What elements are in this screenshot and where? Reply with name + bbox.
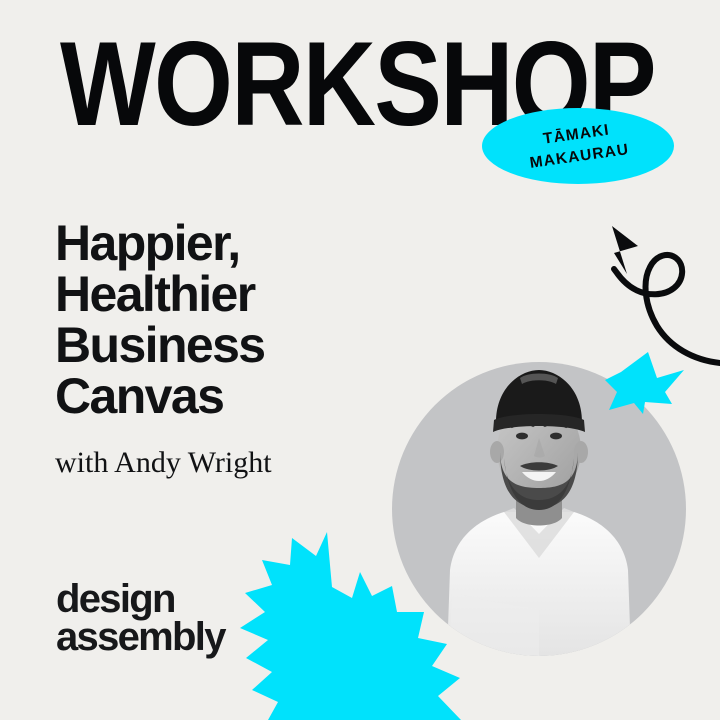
brand-logo: design assembly [56,580,225,656]
workshop-title-line3: Business [55,320,385,371]
workshop-title-line4: Canvas [55,371,385,422]
presenter-name: with Andy Wright [55,446,272,480]
brand-logo-line1: design [56,580,225,618]
workshop-title: Happier, Healthier Business Canvas [55,218,385,422]
workshop-title-line2: Healthier [55,269,385,320]
poster-canvas: WORKSHOP TĀMAKI MAKAURAU Happier, Health… [0,0,720,720]
location-badge: TĀMAKI MAKAURAU [482,108,674,184]
brand-logo-line2: assembly [56,618,225,656]
workshop-title-line1: Happier, [55,218,385,269]
